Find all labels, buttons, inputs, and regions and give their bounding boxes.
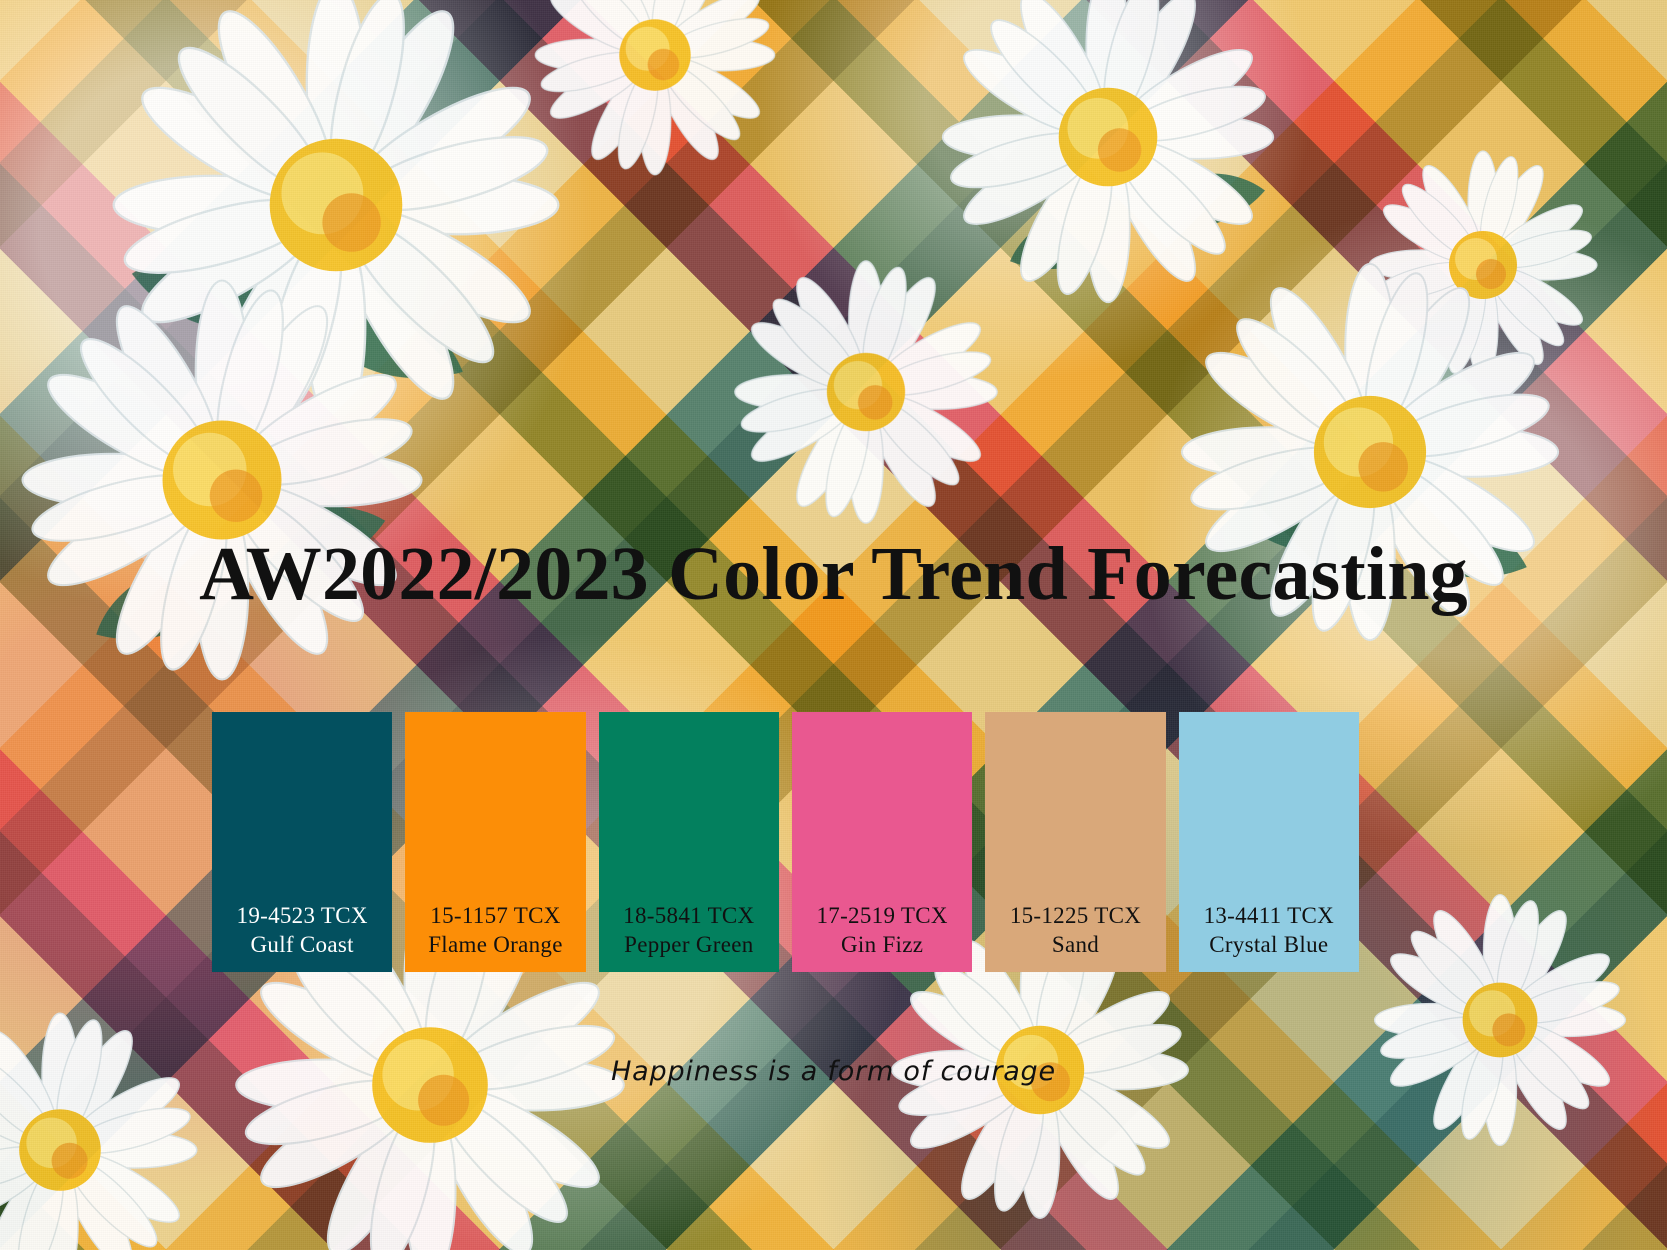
color-swatch-flame-orange[interactable]: 15-1157 TCX Flame Orange — [405, 712, 585, 972]
swatch-name: Pepper Green — [624, 931, 753, 960]
swatch-code: 17-2519 TCX — [817, 902, 948, 931]
color-palette: 19-4523 TCX Gulf Coast 15-1157 TCX Flame… — [212, 712, 1359, 972]
color-swatch-pepper-green[interactable]: 18-5841 TCX Pepper Green — [599, 712, 779, 972]
color-swatch-sand[interactable]: 15-1225 TCX Sand — [985, 712, 1165, 972]
swatch-name: Flame Orange — [428, 931, 563, 960]
swatch-name: Crystal Blue — [1209, 931, 1328, 960]
color-swatch-crystal-blue[interactable]: 13-4411 TCX Crystal Blue — [1179, 712, 1359, 972]
swatch-code: 15-1157 TCX — [430, 902, 560, 931]
swatch-code: 15-1225 TCX — [1010, 902, 1141, 931]
color-swatch-gulf-coast[interactable]: 19-4523 TCX Gulf Coast — [212, 712, 392, 972]
swatch-name: Gulf Coast — [251, 931, 354, 960]
color-swatch-gin-fizz[interactable]: 17-2519 TCX Gin Fizz — [792, 712, 972, 972]
color-trend-poster: AW2022/2023 Color Trend Forecasting 19-4… — [0, 0, 1667, 1250]
swatch-code: 13-4411 TCX — [1204, 902, 1334, 931]
tagline: Happiness is a form of courage — [0, 1056, 1667, 1087]
swatch-code: 19-4523 TCX — [237, 902, 368, 931]
swatch-name: Gin Fizz — [841, 931, 923, 960]
swatch-name: Sand — [1052, 931, 1099, 960]
page-title: AW2022/2023 Color Trend Forecasting — [0, 536, 1667, 612]
swatch-code: 18-5841 TCX — [623, 902, 754, 931]
